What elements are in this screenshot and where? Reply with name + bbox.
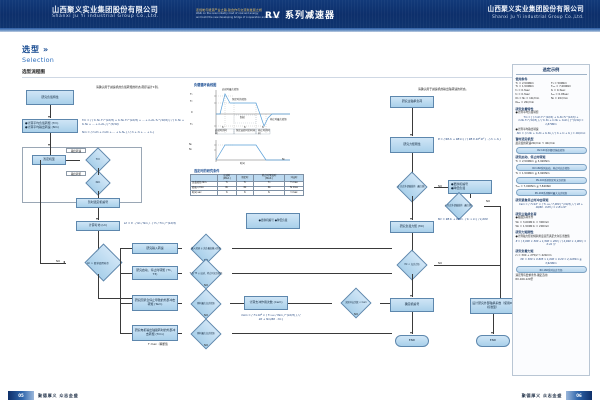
chevron-right-icon: » (43, 45, 49, 54)
formula-moment: θ = ( 98·ℓ₁ + 98·ℓ₂ ) / ( 98·K·10⁴·D² ) … (438, 138, 504, 142)
node-moment-rigidity[interactable]: 研究力矩刚性 (390, 137, 434, 153)
panel-conditions-grid: T₁ = 2,500Nm T₃ = 500Nm T₂ = 1,500Nm Tₑₘ… (516, 82, 587, 105)
panel-block-1-title: 研究负载特性 (516, 107, 587, 111)
arrow-12 (491, 332, 493, 334)
section-subtitle: 选型流程图 (22, 69, 45, 75)
connector-16 (120, 303, 132, 304)
decision-lock[interactable]: 瞬时最大允许转矩 (180, 325, 232, 343)
chart-phase-stop: 停止时的时间 (258, 130, 272, 136)
chart-phase-steady: 恒定运转时的时间 (236, 130, 256, 133)
table-row: 时间 sec t₁ t₂ t₃ t max (191, 191, 304, 196)
node-calc-average[interactable]: ●计算平均负载转矩 (Tm) ●计算平均输出转速 (Nm) (22, 119, 78, 133)
node-moment-load[interactable]: 研究负载力矩 (Mc) (390, 221, 434, 233)
page-header: 山西聚义实业集团股份有限公司 Shanxi Ju Yi industrial G… (0, 0, 600, 32)
formula-average-speed: Nm = ( t₁·N₁ + t₂·N₂ + ... + tₙ·Nₙ ) / (… (82, 131, 182, 135)
condition-table-header-row: 启动时 (MAX.) 恒定时 停止时/紧急时 (MAX.) 冲击时 (191, 175, 304, 182)
arrow-8 (410, 218, 412, 220)
no-label-lock: NO (204, 344, 208, 347)
node-motor-lock[interactable]: 研究电机输出轴锁转时的外部冲击转矩 (Tmx) (132, 325, 178, 341)
decision-moment-2[interactable]: ≦ 允许外部轴载荷（最大值） (434, 198, 484, 214)
chart-annotation-stop: 停止时最大转矩 (270, 119, 296, 122)
note-output-speed: 请确认用于减速机的输出轴转速的状态。 (418, 88, 480, 92)
panel-block-5-item-1: W₁ = 3,000N ℓ₁ = 300mm (516, 221, 587, 225)
node-emergency-stop[interactable]: 研究因紧急停止导致的外部冲击转矩 (Tem) (132, 295, 178, 311)
cond-item-10: Nₑₘ = 20r/min (516, 101, 552, 105)
node-calc-cem[interactable]: 计算支冲作用次数 (Cem) (244, 296, 288, 310)
node-end-right[interactable]: END (476, 335, 510, 347)
header-right-logo: 山西聚义实业集团股份有限公司 Shanxi Ju Yi industrial G… (487, 6, 584, 19)
connector-37 (412, 274, 413, 297)
panel-block-3-pill-1: RV-160系列恒定时允许转矩 (516, 177, 587, 184)
section-divider (22, 77, 562, 78)
chart-annotation-brake: 制动 (240, 117, 245, 120)
connector-30 (434, 187, 448, 188)
node-load-characteristic[interactable]: 研究负载特性 (26, 90, 74, 105)
footer-slogan-left: 聚德厚义 众志金盛 (38, 393, 78, 399)
connector-23 (288, 303, 332, 304)
panel-block-1-item-0: ●计算平均负载转矩 (516, 111, 587, 115)
connector-4 (66, 160, 80, 161)
connector-25 (232, 273, 392, 274)
panel-block-2-item-0: 最高使用转速20r/min ≒ 40r/min (516, 142, 587, 146)
cond-r2-c0: 时间 sec (191, 191, 218, 196)
connector-12 (98, 298, 132, 299)
chart-phase-start: 启动时的时间 (215, 130, 229, 136)
panel-block-3-title: 研究启动、停止时转矩 (516, 155, 587, 159)
header-right-company-en: Shanxi Ju Yi industrial Group Co.,Ltd. (487, 15, 584, 19)
connector-36 (434, 265, 500, 266)
no-label-start-stop: NO (204, 284, 208, 287)
connector-13 (120, 248, 121, 333)
chart-ytick-t3: T₃ (190, 123, 192, 126)
footer-slogan-right: 聚德厚义 众志金盛 (522, 393, 562, 399)
footer-left: 05 聚德厚义 众志金盛 (8, 391, 82, 400)
chart-annotation-steady: 恒定时的转矩 (232, 99, 246, 102)
connector-18 (178, 248, 182, 249)
panel-block-5-item-0: ●轴载负荷条件 (516, 216, 587, 220)
node-improve-performance[interactable]: ●更换机编号 ●降低负载 (246, 213, 300, 229)
chart-ytick-n1: N₁ (189, 148, 192, 151)
header-right-company-cn: 山西聚义实业集团股份有限公司 (487, 6, 584, 13)
no-label-emergency: NO (204, 314, 208, 317)
panel-block-6-title: 研究力矩刚性 (516, 230, 587, 234)
chart-title: 负载循环曲线图 (194, 82, 216, 87)
footer-right: 06 聚德厚义 众志金盛 (518, 391, 592, 400)
selection-example-panel: 选定示例 使用条件 T₁ = 2,500Nm T₃ = 500Nm T₂ = 1… (512, 64, 590, 376)
panel-block-1-formula: Tm = [ ( t₁·N₁·T₁^(10/3) + t₂·N₂·T₂^(10/… (516, 116, 587, 127)
formula-cem: Cem = ( 7×10⁴ × ( T₁·₅₀₀ / Tem )^(10/3) … (240, 314, 302, 322)
section-title-en: Selection (22, 56, 54, 64)
connector-3 (50, 146, 51, 155)
chart-ytick-n0: N₀ (189, 143, 192, 146)
no-label-moment-2: NO (486, 200, 490, 203)
connector-20 (178, 303, 182, 304)
panel-heading: 选定示例 (516, 67, 587, 75)
decision-life[interactable]: Lh > 要求使用寿命 (64, 252, 132, 274)
formula-mc: Mc = 98·ℓ₁ + 98·ℓ₂ · ( ℓ₁ > ℓ₂ ) / 1,000 (438, 218, 502, 222)
connector-26 (232, 333, 392, 334)
load-cycle-chart-svg (194, 88, 306, 166)
connector-14 (120, 248, 132, 249)
node-input-speed[interactable]: 研究输入转速 (132, 243, 178, 254)
panel-block-7-item2-1: RV-160-129型 (516, 278, 587, 282)
chart-ytick-t1: T₁ (190, 93, 192, 96)
page-number-left: 05 (8, 391, 34, 400)
cond-r2-c1: t₁ (218, 191, 237, 196)
connector-38 (412, 312, 413, 334)
page-number-right: 06 (566, 391, 592, 400)
connector-32 (484, 206, 500, 207)
formula-average-torque: Tm = ( ( t₁·N₁·T₁^(10/3) + t₂·N₂·T₂^(10/… (82, 119, 188, 127)
panel-block-1-item2-0: ●计算平均输出转速 (516, 128, 587, 132)
panel-block-2-pill: RV-160系列额定输出转矩 (516, 147, 587, 154)
decision-cem[interactable]: 实际冲击次数 < Cem (330, 294, 382, 312)
node-confirm-number[interactable]: 确定机编号 (390, 298, 434, 312)
panel-block-4-title: 研究紧急停止时冲击转矩 (516, 198, 587, 202)
no-label-cem: NO (354, 313, 358, 316)
decision-tm[interactable]: Tm (80, 152, 116, 168)
panel-block-3-item-0: T₁ = 2,500Nm ≦ 3,920Nm (516, 160, 587, 164)
node-end-left[interactable]: END (395, 335, 429, 347)
connector-22 (230, 303, 244, 304)
node-main-bearing[interactable]: 研究主轴承负荷 (390, 96, 434, 108)
connector-39 (493, 314, 494, 334)
panel-block-1-formula2: Nm = ( t₁·N₁ + t₂·N₂ + t₃·N₃ ) / ( t₁ + … (516, 132, 587, 136)
panel-block-3-pill-2: RV-160系列瞬时最大允许转矩 (516, 189, 587, 196)
panel-block-2-title: 暂时选定机型 (516, 137, 587, 141)
connector-9 (40, 263, 66, 264)
panel-block-3-item-1: T₃ = 1,500Nm ≦ 3,920Nm (516, 172, 587, 176)
node-tentative-number[interactable]: 暂时选定机编号 (76, 198, 120, 208)
chart-ytick-t2: T₂ (190, 100, 192, 103)
formula-life: Lh = K · ( N₀ / Nm ) · ( T₀ / Tm )^(10/3… (124, 222, 186, 226)
node-change-model[interactable]: ●更换机编号 ●降低负载 (448, 180, 492, 194)
connector-10 (40, 160, 41, 263)
section-title-cn-text: 选型 (22, 45, 40, 54)
node-tentative-model[interactable]: 暂定机型 (32, 155, 66, 165)
arrow-6 (410, 134, 412, 136)
decision-nm[interactable]: Nm (80, 175, 116, 191)
connector-24 (232, 248, 392, 249)
label-tmax: T max : 瞬断值 (148, 343, 168, 347)
arrow-3 (96, 218, 98, 220)
arrow-10 (410, 295, 412, 297)
decision-emergency[interactable]: 瞬时最大允许转矩 (180, 295, 232, 313)
condition-table-title: 选定时的研究条件 (194, 168, 220, 173)
connector-6 (98, 191, 99, 198)
decision-moment-load[interactable]: Mc < 允许力矩 (388, 256, 436, 274)
chart-xlabel-time: 时间 (240, 163, 245, 166)
panel-block-7-formula: Mc = 300 × 0.605 × 1,000 × 0.20 = 2,110N… (516, 258, 587, 266)
note-load-characteristic: 请确认用于减速机的负载转矩的状态,图示是计1例。 (96, 86, 176, 90)
cond-r2-c3: t₃ (254, 191, 285, 196)
decision-input-speed[interactable]: 输入转速 ≦ 允许最高输入转速 (180, 240, 232, 258)
cond-r2-c2: t₂ (236, 191, 253, 196)
cond-r2-c4: t max (285, 191, 304, 196)
node-start-stop[interactable]: 研究启动、停止时转矩 (T1、T3) (132, 266, 178, 280)
node-design-external[interactable]: 设计研究外部轴承系数（使用RV标准型） (470, 298, 516, 314)
panel-block-6-item-0: ●计算轴力矩的倾斜角度是否满足允许该当数值 (516, 235, 587, 239)
section-title-cn: 选型» (22, 44, 54, 55)
load-cycle-chart (194, 88, 306, 166)
connector-5 (98, 168, 99, 175)
panel-block-7-pill: RV-160系列允许力矩 (516, 266, 587, 273)
chart-annotation-n2: N₂ (282, 159, 285, 162)
chart-ytick-zero: 0 (191, 111, 193, 114)
decision-start-stop[interactable]: T 或 T3 ≦ 启动、停止时允许转矩 (180, 265, 232, 283)
connector-31 (470, 194, 471, 198)
connector-15 (120, 273, 132, 274)
connector-17 (120, 333, 132, 334)
chart-annotation-start: 启动时最大转矩 (222, 89, 239, 92)
connector-21 (178, 333, 182, 334)
decision-moment-2-shape (445, 192, 473, 220)
cond-item-9: N₂ = 20r/min (551, 97, 587, 101)
connector-28 (412, 108, 413, 136)
panel-block-6-formula: θ = ( 3,000 × 300 + 1,500 × 200 ) / ( 2,… (516, 240, 587, 248)
decision-moment-1[interactable]: ≦ 允许外部轴载荷（最大值） (388, 178, 436, 196)
panel-block-5-item-2: W₂ = 1,500N ℓ₂ = 200mm (516, 225, 587, 229)
connector-11 (98, 274, 99, 298)
decision-life-shape (84, 243, 122, 281)
page-root: 山西聚义实业集团股份有限公司 Shanxi Ju Yi industrial G… (0, 0, 600, 408)
arrow-11 (410, 332, 412, 334)
panel-block-3-pill-0: RV-160系列启动、停止时允许转矩 (516, 164, 587, 171)
panel-block-3-item-2: Tₑₘ = 7,000Nm ≦ 7,840Nm (516, 185, 587, 189)
panel-block-7-item-0: ℓ₁ = 300 + 275/2 ≒ 420mm (516, 254, 587, 258)
section-heading: 选型» Selection (22, 44, 54, 64)
panel-block-4-formula: Cem = ( 7×10⁴ × ( T₁·₅₀₀ / 7,000 )^(10/3… (516, 203, 587, 211)
panel-block-7-title: 研究负载力矩 (516, 249, 587, 253)
panel-block-0-title: 使用条件 (516, 77, 587, 81)
connector-19 (178, 273, 182, 274)
connector-34 (412, 196, 413, 220)
node-calc-life[interactable]: 计算寿命 (Lh) (76, 221, 120, 231)
condition-table: 启动时 (MAX.) 恒定时 停止时/紧急时 (MAX.) 冲击时 负载转矩 N… (190, 174, 304, 196)
arrow-1 (48, 116, 50, 118)
